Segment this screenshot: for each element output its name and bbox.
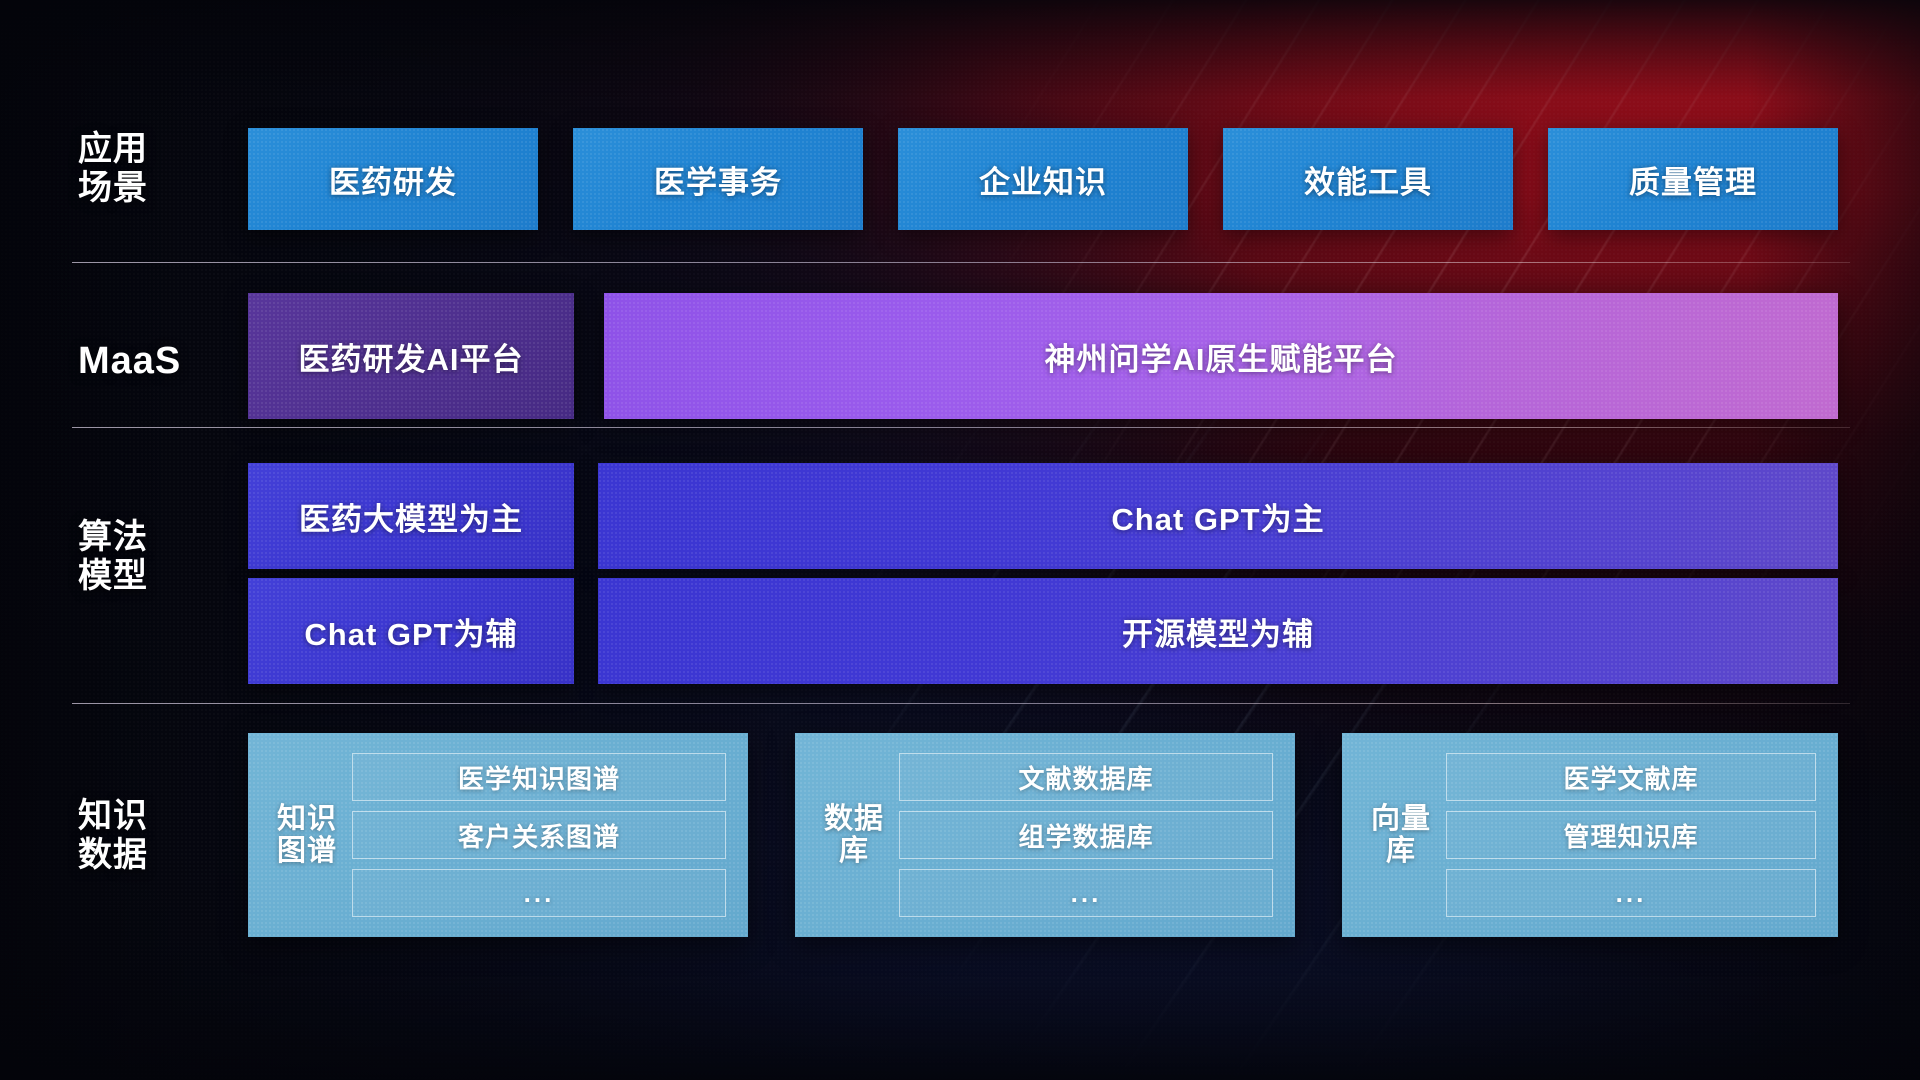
app-card-4[interactable]: 效能工具 xyxy=(1223,128,1513,230)
row-label-algorithm-line1: 算法 xyxy=(78,518,228,557)
knowledge-item[interactable]: 文献数据库 xyxy=(899,753,1273,801)
knowledge-panel-database-title: 数据库 xyxy=(823,733,885,937)
row-label-knowledge: 知识 数据 xyxy=(78,797,228,876)
knowledge-panel-vector-items: 医学文献库 管理知识库 ... xyxy=(1432,733,1838,937)
divider-algorithm-knowledge xyxy=(72,703,1850,704)
divider-maas-algorithm xyxy=(72,427,1850,428)
row-label-application-line1: 应用 xyxy=(78,130,228,169)
knowledge-item-more[interactable]: ... xyxy=(899,869,1273,917)
app-card-2[interactable]: 医学事务 xyxy=(573,128,863,230)
knowledge-panel-graph-title: 知识图谱 xyxy=(276,733,338,937)
row-label-algorithm: 算法 模型 xyxy=(78,518,228,597)
app-card-5[interactable]: 质量管理 xyxy=(1548,128,1838,230)
knowledge-item[interactable]: 客户关系图谱 xyxy=(352,811,726,859)
maas-platform-pharma[interactable]: 医药研发AI平台 xyxy=(248,293,574,419)
algo-row1-right-label: Chat GPT为主 xyxy=(1111,494,1324,539)
knowledge-panel-database-items: 文献数据库 组学数据库 ... xyxy=(885,733,1295,937)
knowledge-item[interactable]: 医学知识图谱 xyxy=(352,753,726,801)
divider-application-maas xyxy=(72,262,1850,263)
knowledge-panel-vector[interactable]: 向量库 医学文献库 管理知识库 ... xyxy=(1342,733,1838,937)
row-label-knowledge-line1: 知识 xyxy=(78,797,228,836)
knowledge-panel-graph-items: 医学知识图谱 客户关系图谱 ... xyxy=(338,733,748,937)
diagram-content: 应用 场景 医药研发 医学事务 企业知识 效能工具 质量管理 MaaS xyxy=(0,0,1920,1080)
row-label-maas: MaaS xyxy=(78,339,228,383)
app-card-3[interactable]: 企业知识 xyxy=(898,128,1188,230)
app-card-1[interactable]: 医药研发 xyxy=(248,128,538,230)
row-label-application: 应用 场景 xyxy=(78,130,228,209)
knowledge-item-more[interactable]: ... xyxy=(1446,869,1816,917)
knowledge-panel-graph[interactable]: 知识图谱 医学知识图谱 客户关系图谱 ... xyxy=(248,733,748,937)
knowledge-item[interactable]: 组学数据库 xyxy=(899,811,1273,859)
algo-row2-right-label: 开源模型为辅 xyxy=(1122,609,1314,654)
algo-row1-left-label: 医药大模型为主 xyxy=(299,494,523,539)
row-label-application-line2: 场景 xyxy=(78,169,228,208)
algo-row2-right[interactable]: 开源模型为辅 xyxy=(598,578,1838,684)
app-card-4-label: 效能工具 xyxy=(1304,157,1432,202)
slide-canvas: 应用 场景 医药研发 医学事务 企业知识 效能工具 质量管理 MaaS xyxy=(0,0,1920,1080)
app-card-5-label: 质量管理 xyxy=(1629,157,1757,202)
algo-row1-right[interactable]: Chat GPT为主 xyxy=(598,463,1838,569)
maas-platform-shenzhou-label: 神州问学AI原生赋能平台 xyxy=(1045,334,1398,379)
maas-platform-shenzhou[interactable]: 神州问学AI原生赋能平台 xyxy=(604,293,1838,419)
knowledge-panel-database[interactable]: 数据库 文献数据库 组学数据库 ... xyxy=(795,733,1295,937)
row-label-algorithm-line2: 模型 xyxy=(78,557,228,596)
knowledge-panel-vector-title: 向量库 xyxy=(1370,733,1432,937)
row-label-knowledge-line2: 数据 xyxy=(78,836,228,875)
algo-row2-left-label: Chat GPT为辅 xyxy=(304,609,517,654)
knowledge-item-more[interactable]: ... xyxy=(352,869,726,917)
algo-row1-left[interactable]: 医药大模型为主 xyxy=(248,463,574,569)
algo-row2-left[interactable]: Chat GPT为辅 xyxy=(248,578,574,684)
app-card-2-label: 医学事务 xyxy=(654,157,782,202)
knowledge-item[interactable]: 管理知识库 xyxy=(1446,811,1816,859)
maas-platform-pharma-label: 医药研发AI平台 xyxy=(299,334,524,379)
row-label-maas-text: MaaS xyxy=(78,339,228,383)
knowledge-item[interactable]: 医学文献库 xyxy=(1446,753,1816,801)
app-card-3-label: 企业知识 xyxy=(979,157,1107,202)
app-card-1-label: 医药研发 xyxy=(329,157,457,202)
